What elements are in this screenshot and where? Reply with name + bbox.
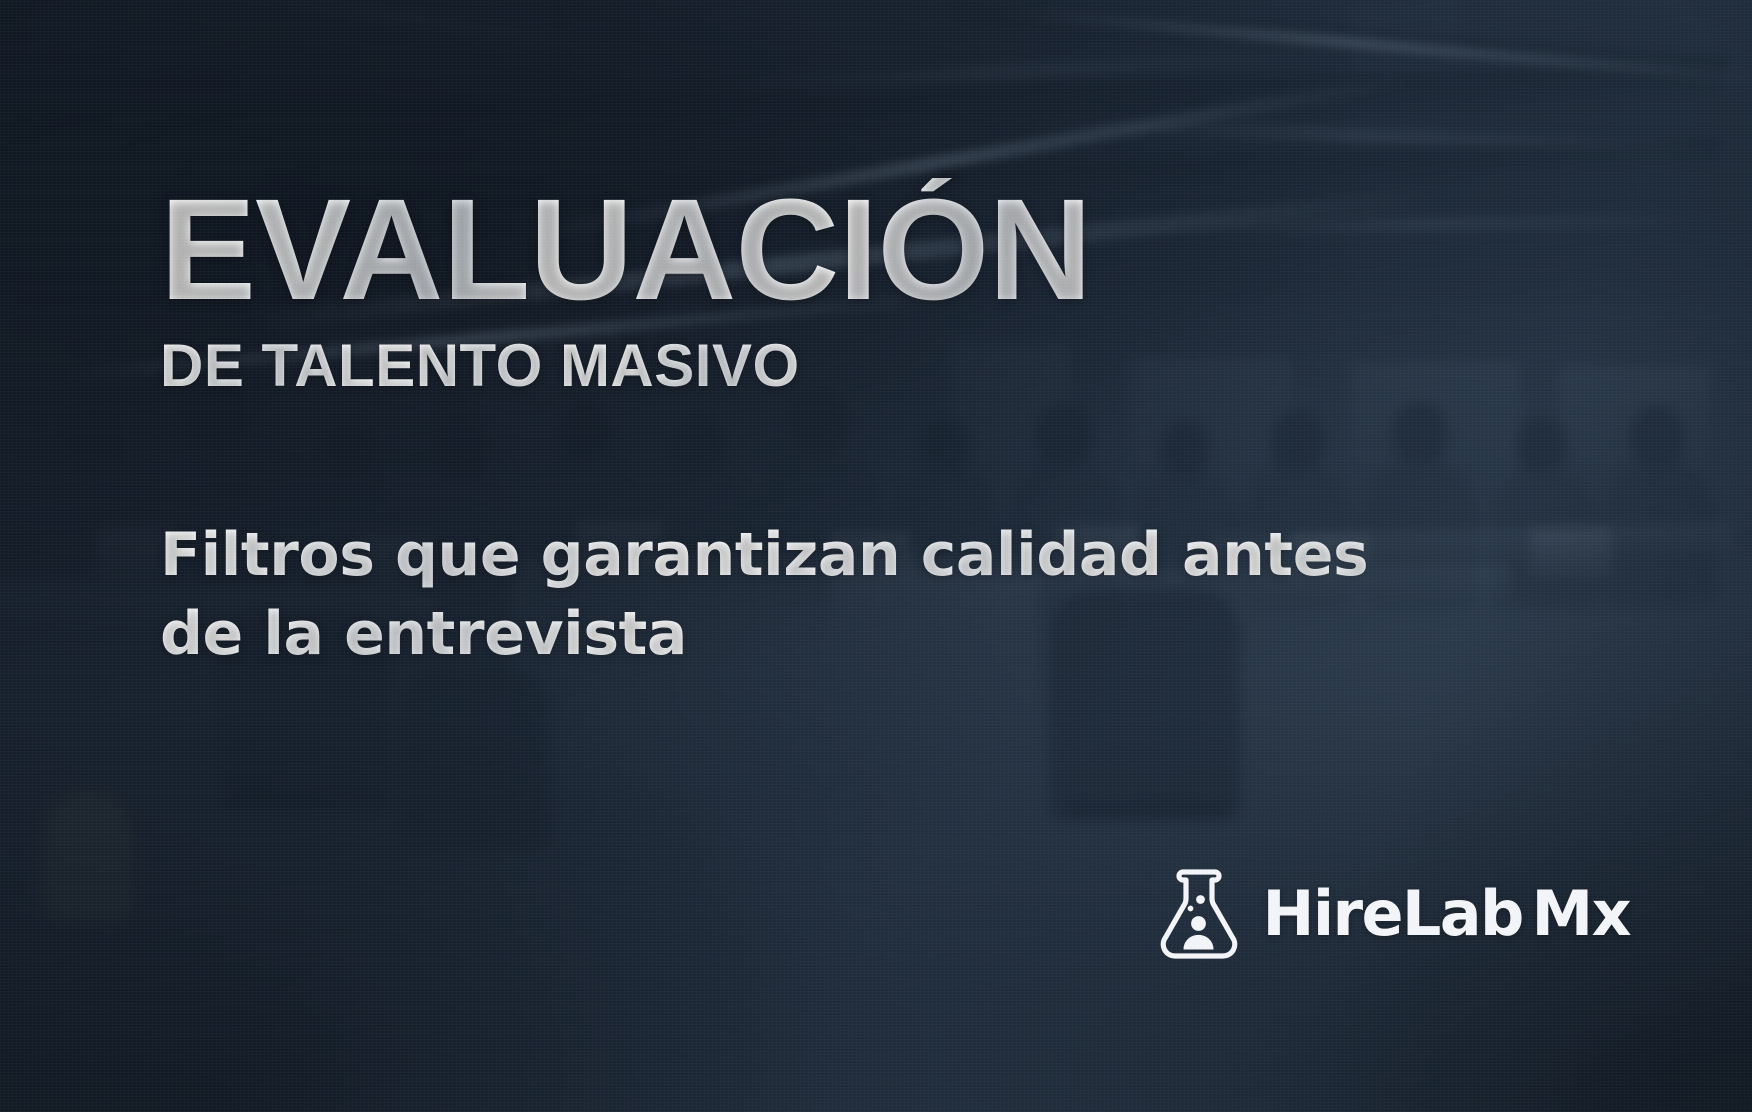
hero-subtitle: DE TALENTO MASIVO [160, 336, 800, 396]
hero-title: EVALUACIÓN [160, 178, 1091, 322]
brand-wordmark: HireLabMx [1263, 883, 1630, 945]
hero-banner: EVALUACIÓN DE TALENTO MASIVO Filtros que… [0, 0, 1752, 1112]
flask-with-person-icon [1153, 866, 1245, 962]
brand-wordmark-secondary: Mx [1532, 877, 1631, 950]
brand-logo[interactable]: HireLabMx [1153, 866, 1630, 962]
hero-tagline: Filtros que garantizan calidad antes de … [160, 516, 1460, 674]
hero-tagline-line-1: Filtros que garantizan calidad antes [160, 516, 1460, 595]
brand-wordmark-primary: HireLab [1263, 877, 1523, 950]
hero-tagline-line-2: de la entrevista [160, 595, 1460, 674]
